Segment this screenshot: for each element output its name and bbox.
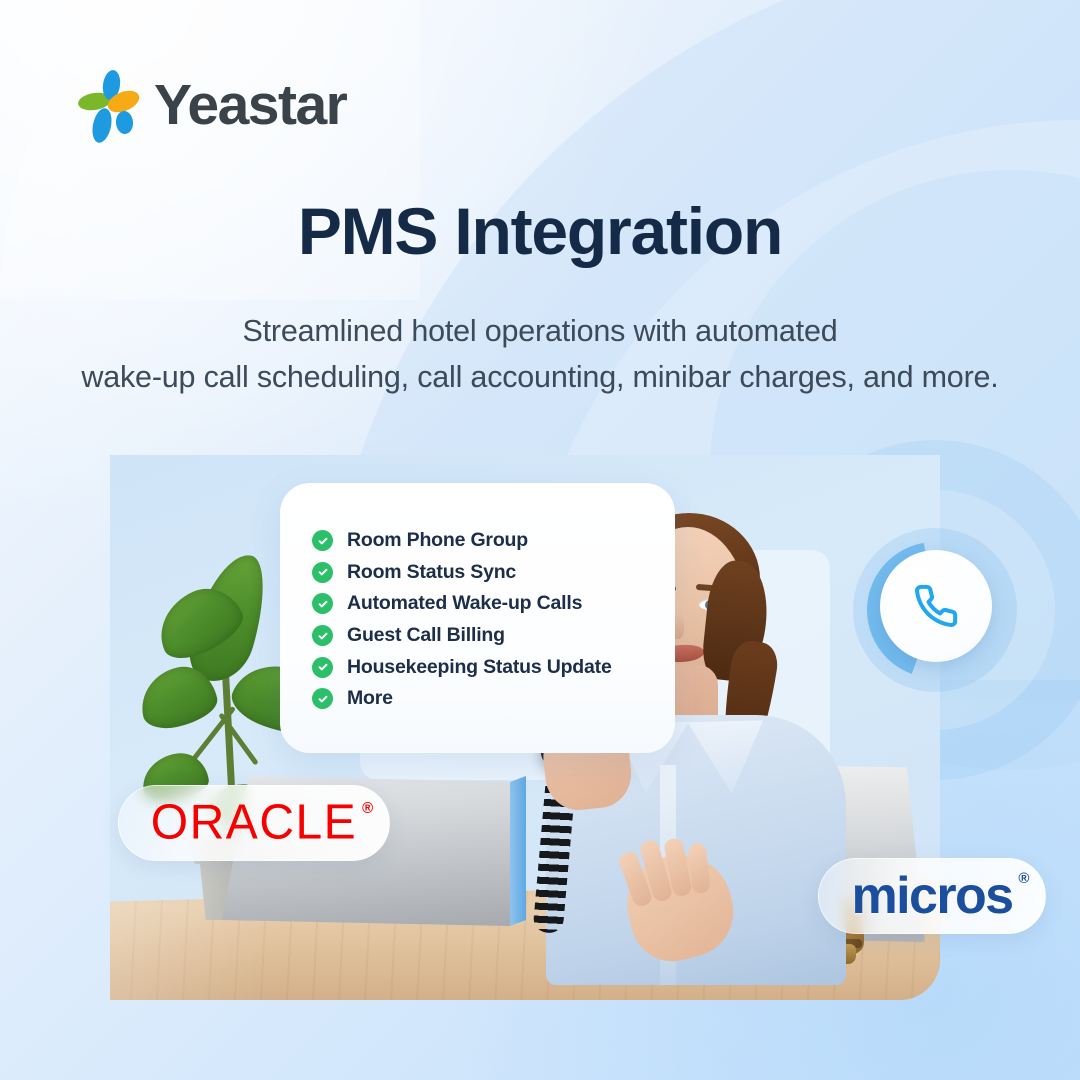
- feature-label: More: [347, 687, 393, 710]
- feature-label: Housekeeping Status Update: [347, 656, 612, 679]
- brand-logo[interactable]: Yeastar: [78, 66, 346, 144]
- check-circle-icon: [312, 530, 333, 551]
- feature-label: Guest Call Billing: [347, 624, 505, 647]
- check-circle-icon: [312, 562, 333, 583]
- list-item: Automated Wake-up Calls: [312, 588, 675, 620]
- list-item: Guest Call Billing: [312, 620, 675, 652]
- page-title: PMS Integration: [0, 196, 1080, 267]
- check-circle-icon: [312, 657, 333, 678]
- call-badge-circle[interactable]: [880, 550, 992, 662]
- page-subtitle-line-2: wake-up call scheduling, call accounting…: [0, 354, 1080, 400]
- check-circle-icon: [312, 625, 333, 646]
- micros-logo-icon: micros ®: [852, 870, 1013, 922]
- oracle-wordmark: ORACLE: [151, 795, 357, 849]
- yeastar-flower-mark-icon: [78, 70, 140, 140]
- feature-list: Room Phone Group Room Status Sync Automa…: [312, 525, 675, 715]
- partner-badge-oracle[interactable]: ORACLE ®: [118, 785, 390, 861]
- list-item: Room Status Sync: [312, 557, 675, 589]
- call-badge[interactable]: [845, 520, 1025, 700]
- page-subtitle: Streamlined hotel operations with automa…: [0, 308, 1080, 401]
- check-circle-icon: [312, 688, 333, 709]
- phone-handset-icon: [913, 583, 959, 629]
- list-item: More: [312, 683, 675, 715]
- list-item: Housekeeping Status Update: [312, 651, 675, 683]
- micros-trademark: ®: [1018, 871, 1029, 886]
- micros-wordmark: micros: [852, 867, 1013, 925]
- oracle-trademark: ®: [362, 801, 373, 816]
- logo-petal-bottom-right-blue: [115, 110, 134, 134]
- check-circle-icon: [312, 593, 333, 614]
- feature-label: Automated Wake-up Calls: [347, 592, 582, 615]
- oracle-logo-icon: ORACLE ®: [151, 799, 357, 848]
- list-item: Room Phone Group: [312, 525, 675, 557]
- feature-label: Room Status Sync: [347, 561, 516, 584]
- logo-petal-bottom-left-blue: [90, 107, 115, 145]
- page-subtitle-line-1: Streamlined hotel operations with automa…: [243, 314, 838, 348]
- feature-list-card: Room Phone Group Room Status Sync Automa…: [280, 483, 675, 753]
- brand-wordmark: Yeastar: [154, 77, 346, 134]
- promo-canvas: Yeastar PMS Integration Streamlined hote…: [0, 0, 1080, 1080]
- feature-label: Room Phone Group: [347, 529, 528, 552]
- partner-badge-micros[interactable]: micros ®: [818, 858, 1046, 934]
